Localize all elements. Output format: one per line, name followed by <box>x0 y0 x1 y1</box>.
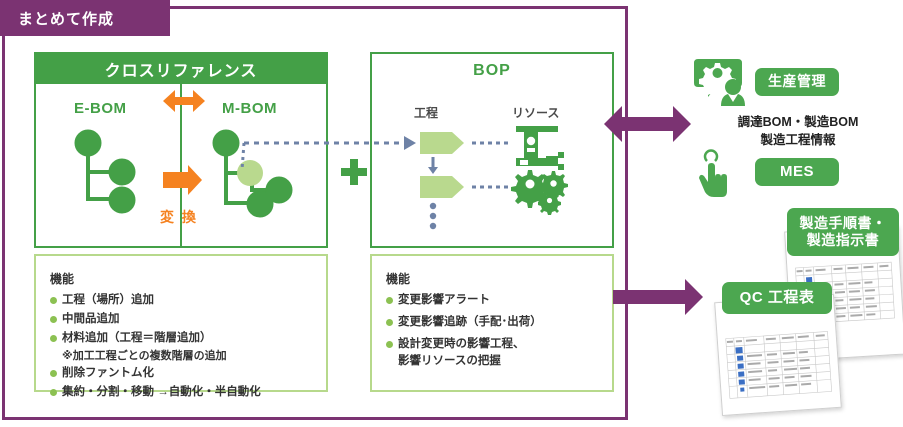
functions-left-item-label: 工程（場所）追加 <box>62 292 154 310</box>
pill-mes[interactable]: MES <box>755 158 839 186</box>
hand-tap-icon <box>699 151 727 197</box>
functions-right-item-label: 設計変更時の影響工程、 <box>398 336 525 354</box>
bullet-icon <box>386 297 393 304</box>
bullet-icon <box>50 297 57 304</box>
functions-left-item-0: 工程（場所）追加 <box>50 292 314 310</box>
functions-left-note: ※加工工程ごとの複数階層の追加 <box>50 348 314 365</box>
functions-right-continuation: 影響リソースの把握 <box>386 353 600 371</box>
functions-right-title: 機能 <box>386 270 600 287</box>
pill-procedure-line2: 製造指示書 <box>807 232 880 250</box>
pill-qc-process-chart[interactable]: QC 工程表 <box>722 282 832 314</box>
henkan-label: 変 換 <box>160 207 198 227</box>
functions-right-item-2: 設計変更時の影響工程、 <box>386 336 600 354</box>
bullet-icon <box>50 335 57 342</box>
bullet-icon <box>50 316 57 323</box>
bullet-icon <box>50 389 57 396</box>
functions-left-item-label: 材料追加（工程＝階層追加） <box>62 330 212 348</box>
bullet-icon <box>386 341 393 348</box>
functions-left-item-3: 削除ファントム化 <box>50 365 314 383</box>
functions-left-box: 機能 工程（場所）追加 中間品追加 材料追加（工程＝階層追加） ※加工工程ごとの… <box>34 254 328 392</box>
mbom-label: M-BOM <box>222 100 277 117</box>
pill-seisan-kanri[interactable]: 生産管理 <box>755 68 839 96</box>
diagram-canvas: まとめて作成 クロスリファレンス E-BOM M-BOM 変 換 BOP 工程 … <box>0 0 903 427</box>
resource-label: リソース <box>512 104 559 121</box>
functions-left-item-1: 中間品追加 <box>50 311 314 329</box>
bullet-icon <box>386 319 393 326</box>
bop-box: BOP <box>370 52 614 248</box>
functions-left-title: 機能 <box>50 270 314 287</box>
gear-speech-person-icon <box>694 59 745 106</box>
functions-left-item-label: 集約・分割・移動 →自動化・半自動化 <box>62 384 261 402</box>
functions-left-item-label: 中間品追加 <box>62 311 120 329</box>
crossreference-title: クロスリファレンス <box>36 54 326 84</box>
banner-matomete-sakusei: まとめて作成 <box>0 0 170 36</box>
functions-right-item-label: 変更影響アラート <box>398 292 490 310</box>
functions-right-box: 機能 変更影響アラート 変更影響追跡（手配･出荷） 設計変更時の影響工程、 影響… <box>370 254 614 392</box>
functions-right-item-1: 変更影響追跡（手配･出荷） <box>386 314 600 332</box>
kotei-label: 工程 <box>414 104 438 121</box>
ebom-label: E-BOM <box>74 100 127 117</box>
pill-manufacturing-procedure[interactable]: 製造手順書・ 製造指示書 <box>787 208 899 256</box>
bullet-icon <box>50 370 57 377</box>
functions-left-item-label: 削除ファントム化 <box>62 365 154 383</box>
bom-description: 調達BOM・製造BOM 製造工程情報 <box>700 113 896 149</box>
functions-left-item-4: 集約・分割・移動 →自動化・半自動化 <box>50 384 314 402</box>
bop-title: BOP <box>372 54 612 88</box>
functions-right-item-label: 変更影響追跡（手配･出荷） <box>398 314 542 332</box>
bom-description-line2: 製造工程情報 <box>700 131 896 149</box>
functions-right-item-0: 変更影響アラート <box>386 292 600 310</box>
pill-procedure-line1: 製造手順書・ <box>800 215 887 233</box>
bom-description-line1: 調達BOM・製造BOM <box>700 113 896 131</box>
functions-left-item-2: 材料追加（工程＝階層追加） <box>50 330 314 348</box>
